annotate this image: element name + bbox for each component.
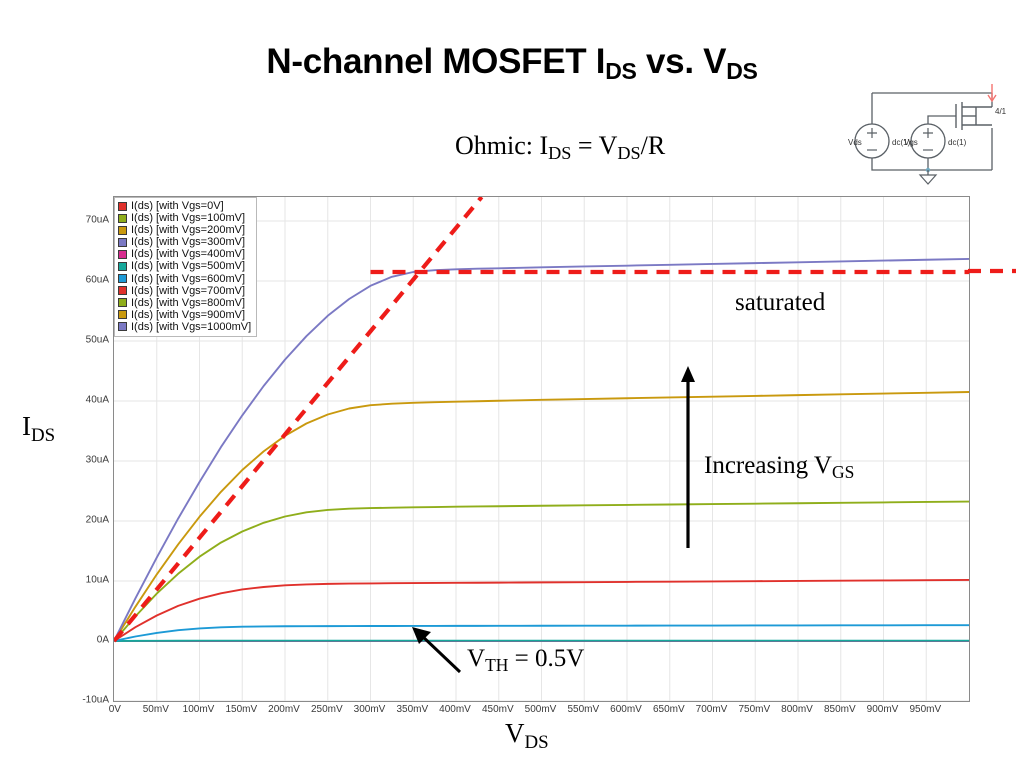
legend-item[interactable]: I(ds) [with Vgs=400mV] bbox=[118, 248, 251, 260]
x-axis-tick-label: 750mV bbox=[738, 704, 770, 715]
legend-item[interactable]: I(ds) [with Vgs=800mV] bbox=[118, 297, 251, 309]
x-axis-tick-label: 350mV bbox=[396, 704, 428, 715]
x-axis-tick-label: 850mV bbox=[824, 704, 856, 715]
legend-item[interactable]: I(ds) [with Vgs=900mV] bbox=[118, 309, 251, 321]
y-axis-tick-label: 0A bbox=[97, 635, 109, 646]
legend-item[interactable]: I(ds) [with Vgs=1000mV] bbox=[118, 321, 251, 333]
legend-item[interactable]: I(ds) [with Vgs=300mV] bbox=[118, 236, 251, 248]
title-sub-ds2: DS bbox=[726, 58, 757, 84]
legend-color-swatch bbox=[118, 202, 127, 211]
y-axis-tick-label: 60uA bbox=[86, 275, 109, 286]
y-axis-title: IDS bbox=[22, 411, 55, 442]
vds-label: Vds bbox=[848, 138, 862, 147]
x-axis-tick-label: 600mV bbox=[610, 704, 642, 715]
x-axis-tick-label: 150mV bbox=[225, 704, 257, 715]
legend-color-swatch bbox=[118, 274, 127, 283]
title-sub-ds1: DS bbox=[605, 58, 636, 84]
legend-item-label: I(ds) [with Vgs=600mV] bbox=[131, 273, 245, 285]
mosfet-ratio-label: 4/1 bbox=[995, 107, 1007, 116]
legend-color-swatch bbox=[118, 262, 127, 271]
legend-item-label: I(ds) [with Vgs=300mV] bbox=[131, 236, 245, 248]
x-axis-tick-label: 500mV bbox=[525, 704, 557, 715]
x-axis-tick-label: 550mV bbox=[567, 704, 599, 715]
x-axis-tick-label: 300mV bbox=[354, 704, 386, 715]
y-axis-ticks: 70uA60uA50uA40uA30uA20uA10uA0A-10uA bbox=[70, 196, 109, 702]
x-axis-title: VDS bbox=[505, 718, 549, 749]
legend-item-label: I(ds) [with Vgs=500mV] bbox=[131, 260, 245, 272]
legend-color-swatch bbox=[118, 250, 127, 259]
x-axis-tick-label: 100mV bbox=[183, 704, 215, 715]
y-axis-tick-label: 70uA bbox=[86, 215, 109, 226]
legend-color-swatch bbox=[118, 286, 127, 295]
title-main: N-channel MOSFET I bbox=[266, 42, 605, 81]
x-axis-tick-label: 250mV bbox=[311, 704, 343, 715]
x-axis-tick-label: 450mV bbox=[482, 704, 514, 715]
y-axis-tick-label: -10uA bbox=[82, 695, 109, 706]
y-axis-tick-label: 30uA bbox=[86, 455, 109, 466]
legend-item-label: I(ds) [with Vgs=400mV] bbox=[131, 248, 245, 260]
legend-item-label: I(ds) [with Vgs=100mV] bbox=[131, 212, 245, 224]
vgs-source-value: dc(1) bbox=[948, 138, 967, 147]
y-axis-tick-label: 20uA bbox=[86, 515, 109, 526]
legend-item[interactable]: I(ds) [with Vgs=200mV] bbox=[118, 224, 251, 236]
slide-canvas: N-channel MOSFET IDS vs. VDS bbox=[0, 0, 1024, 768]
chart-legend: I(ds) [with Vgs=0V]I(ds) [with Vgs=100mV… bbox=[114, 197, 257, 337]
legend-item[interactable]: I(ds) [with Vgs=500mV] bbox=[118, 260, 251, 272]
legend-item[interactable]: I(ds) [with Vgs=600mV] bbox=[118, 273, 251, 285]
y-axis-tick-label: 50uA bbox=[86, 335, 109, 346]
annotation-vth: VTH = 0.5V bbox=[467, 645, 584, 673]
legend-item[interactable]: I(ds) [with Vgs=0V] bbox=[118, 200, 251, 212]
vgs-label: Vgs bbox=[904, 138, 918, 147]
x-axis-tick-label: 0V bbox=[109, 704, 121, 715]
x-axis-tick-label: 200mV bbox=[268, 704, 300, 715]
legend-color-swatch bbox=[118, 310, 127, 319]
x-axis-tick-label: 400mV bbox=[439, 704, 471, 715]
legend-color-swatch bbox=[118, 214, 127, 223]
circuit-diagram-thumbnail: Vds dc(1) Vgs dc(1) 4/1 bbox=[836, 76, 1016, 186]
y-axis-tick-label: 10uA bbox=[86, 575, 109, 586]
title-mid: vs. V bbox=[637, 42, 727, 81]
mosfet-symbol bbox=[956, 102, 992, 130]
legend-item[interactable]: I(ds) [with Vgs=700mV] bbox=[118, 285, 251, 297]
legend-item-label: I(ds) [with Vgs=1000mV] bbox=[131, 321, 251, 333]
legend-color-swatch bbox=[118, 226, 127, 235]
legend-item-label: I(ds) [with Vgs=800mV] bbox=[131, 297, 245, 309]
x-axis-tick-label: 650mV bbox=[653, 704, 685, 715]
x-axis-tick-label: 950mV bbox=[909, 704, 941, 715]
x-axis-tick-label: 50mV bbox=[143, 704, 169, 715]
x-axis-tick-label: 800mV bbox=[781, 704, 813, 715]
annotation-increasing-vgs: Increasing VGS bbox=[704, 452, 854, 480]
legend-item[interactable]: I(ds) [with Vgs=100mV] bbox=[118, 212, 251, 224]
annotation-saturated: saturated bbox=[735, 289, 825, 317]
legend-color-swatch bbox=[118, 322, 127, 331]
legend-item-label: I(ds) [with Vgs=200mV] bbox=[131, 224, 245, 236]
x-axis-tick-label: 900mV bbox=[867, 704, 899, 715]
annotation-ohmic: Ohmic: IDS = VDS/R bbox=[455, 131, 665, 161]
x-axis-tick-label: 700mV bbox=[696, 704, 728, 715]
y-axis-tick-label: 40uA bbox=[86, 395, 109, 406]
legend-item-label: I(ds) [with Vgs=700mV] bbox=[131, 285, 245, 297]
legend-color-swatch bbox=[118, 238, 127, 247]
legend-item-label: I(ds) [with Vgs=0V] bbox=[131, 200, 224, 212]
legend-color-swatch bbox=[118, 298, 127, 307]
legend-item-label: I(ds) [with Vgs=900mV] bbox=[131, 309, 245, 321]
